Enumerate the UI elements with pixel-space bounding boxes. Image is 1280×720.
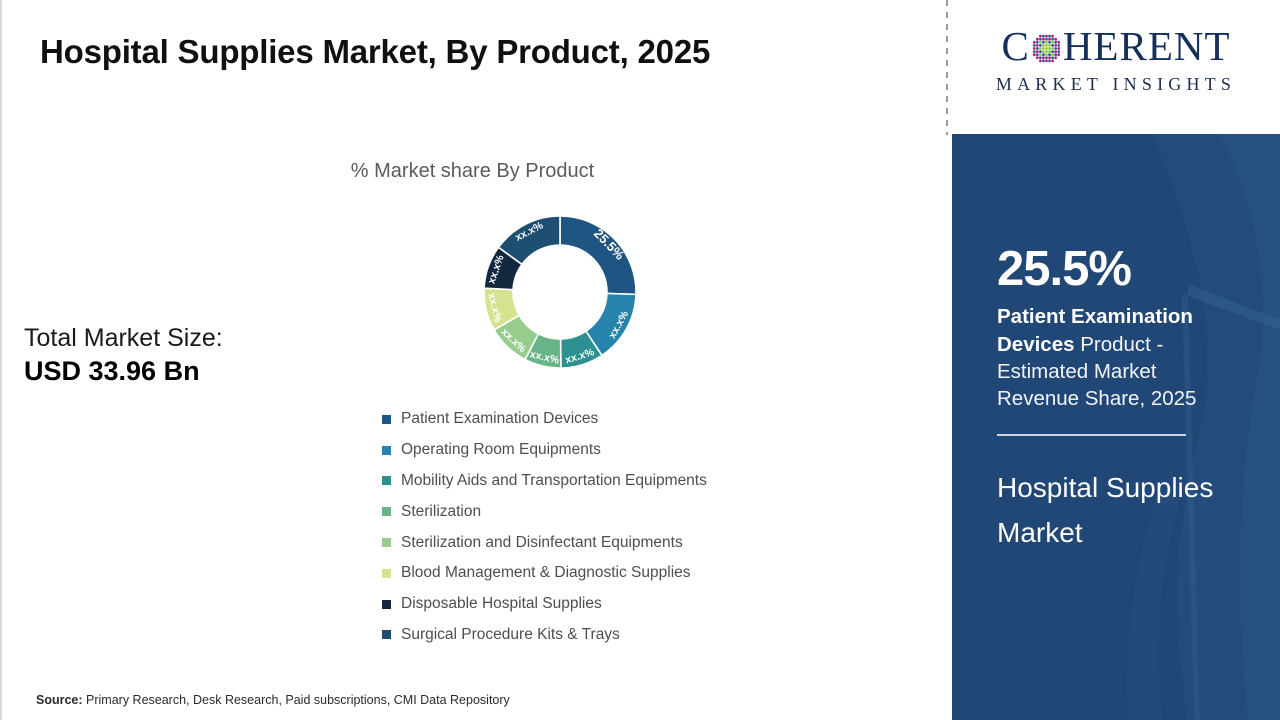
globe-dot <box>1042 47 1045 50</box>
globe-dot <box>1057 47 1060 50</box>
globe-dot <box>1042 56 1045 59</box>
vertical-dashed-divider <box>946 0 948 135</box>
globe-dot <box>1033 47 1036 50</box>
globe-dot <box>1036 38 1039 41</box>
globe-dot <box>1033 50 1036 53</box>
highlight-percent: 25.5% <box>997 244 1237 295</box>
globe-dot <box>1051 47 1054 50</box>
globe-dot <box>1048 47 1051 50</box>
globe-dot <box>1045 59 1048 62</box>
brand-logo-word-rest: HERENT <box>1063 26 1231 67</box>
source-text: Primary Research, Desk Research, Paid su… <box>83 693 510 707</box>
globe-dot <box>1051 38 1054 41</box>
left-edge-rule <box>0 0 2 720</box>
legend-item[interactable]: Sterilization and Disinfectant Equipment… <box>382 527 707 558</box>
globe-dot <box>1045 53 1048 56</box>
globe-dot <box>1051 53 1054 56</box>
globe-dot <box>1039 59 1042 62</box>
globe-dot <box>1057 44 1060 47</box>
globe-dot <box>1048 50 1051 53</box>
globe-dot <box>1054 47 1057 50</box>
globe-dot <box>1039 56 1042 59</box>
donut-slice <box>560 216 636 294</box>
globe-dot <box>1033 41 1036 44</box>
globe-dot <box>1036 53 1039 56</box>
globe-dot <box>1042 44 1045 47</box>
globe-dot <box>1048 59 1051 62</box>
highlight-description: Patient Examination Devices Product - Es… <box>997 303 1237 412</box>
globe-dot <box>1045 41 1048 44</box>
legend-item[interactable]: Mobility Aids and Transportation Equipme… <box>382 466 707 497</box>
globe-dot <box>1054 53 1057 56</box>
globe-dot <box>1042 41 1045 44</box>
globe-dot <box>1039 35 1042 38</box>
legend-item-label: Sterilization <box>401 503 481 521</box>
globe-dot <box>1033 44 1036 47</box>
globe-dot <box>1036 41 1039 44</box>
globe-dot <box>1036 47 1039 50</box>
globe-dot <box>1045 35 1048 38</box>
legend-item[interactable]: Sterilization <box>382 496 707 527</box>
brand-logo-wordmark: C HERENT <box>952 26 1280 67</box>
globe-dot <box>1039 47 1042 50</box>
legend-item[interactable]: Blood Management & Diagnostic Supplies <box>382 558 707 589</box>
globe-dot <box>1039 44 1042 47</box>
globe-dot <box>1051 50 1054 53</box>
legend-color-swatch <box>382 600 391 609</box>
globe-dot <box>1054 41 1057 44</box>
highlight-stat-panel: 25.5% Patient Examination Devices Produc… <box>952 134 1280 720</box>
globe-dot <box>1039 50 1042 53</box>
legend-color-swatch <box>382 415 391 424</box>
globe-dot <box>1057 41 1060 44</box>
highlight-stat-content: 25.5% Patient Examination Devices Produc… <box>997 244 1237 556</box>
legend-item[interactable]: Disposable Hospital Supplies <box>382 589 707 620</box>
legend-item[interactable]: Patient Examination Devices <box>382 404 707 435</box>
globe-dot <box>1036 50 1039 53</box>
globe-dot <box>1039 41 1042 44</box>
legend-item[interactable]: Operating Room Equipments <box>382 435 707 466</box>
globe-dot <box>1048 56 1051 59</box>
legend-item-label: Blood Management & Diagnostic Supplies <box>401 564 691 582</box>
globe-dot <box>1045 50 1048 53</box>
globe-dot <box>1045 56 1048 59</box>
legend-color-swatch <box>382 630 391 639</box>
legend-item-label: Mobility Aids and Transportation Equipme… <box>401 472 707 490</box>
page-title: Hospital Supplies Market, By Product, 20… <box>40 33 710 71</box>
globe-dot <box>1039 38 1042 41</box>
globe-dot <box>1042 53 1045 56</box>
globe-dot <box>1045 47 1048 50</box>
source-note: Source: Primary Research, Desk Research,… <box>36 693 510 707</box>
globe-dot <box>1057 50 1060 53</box>
globe-dot <box>1051 44 1054 47</box>
globe-dot <box>1054 38 1057 41</box>
globe-dot <box>1045 38 1048 41</box>
globe-dot <box>1036 56 1039 59</box>
chart-legend: Patient Examination DevicesOperating Roo… <box>382 404 707 650</box>
globe-dot <box>1039 53 1042 56</box>
legend-color-swatch <box>382 446 391 455</box>
legend-item-label: Surgical Procedure Kits & Trays <box>401 626 620 644</box>
legend-color-swatch <box>382 476 391 485</box>
globe-dot <box>1048 38 1051 41</box>
globe-dot <box>1042 59 1045 62</box>
globe-dot <box>1042 38 1045 41</box>
highlight-market-name: Hospital Supplies Market <box>997 466 1237 556</box>
globe-dot <box>1033 53 1036 56</box>
highlight-divider-rule <box>997 434 1186 436</box>
legend-item-label: Disposable Hospital Supplies <box>401 595 602 613</box>
globe-dot <box>1048 35 1051 38</box>
globe-dot <box>1054 56 1057 59</box>
legend-color-swatch <box>382 538 391 547</box>
legend-item-label: Patient Examination Devices <box>401 410 598 428</box>
legend-color-swatch <box>382 507 391 516</box>
globe-dot <box>1048 44 1051 47</box>
legend-color-swatch <box>382 569 391 578</box>
donut-chart-svg: 25.5%xx.x%xx.x%xx.x%xx.x%xx.x%xx.x%xx.x% <box>470 202 650 382</box>
globe-dot <box>1045 44 1048 47</box>
globe-dot <box>1057 53 1060 56</box>
globe-dot <box>1051 59 1054 62</box>
globe-dot <box>1054 44 1057 47</box>
globe-dot <box>1054 50 1057 53</box>
legend-item[interactable]: Surgical Procedure Kits & Trays <box>382 620 707 651</box>
brand-logo-subtitle: MARKET INSIGHTS <box>952 74 1280 95</box>
globe-dot <box>1051 35 1054 38</box>
dotted-globe-icon <box>1031 33 1062 64</box>
globe-dot <box>1051 56 1054 59</box>
globe-dot <box>1036 44 1039 47</box>
source-label: Source: <box>36 693 83 707</box>
globe-dot <box>1051 41 1054 44</box>
globe-dot <box>1042 35 1045 38</box>
brand-logo-letter-c: C <box>1001 26 1029 67</box>
brand-logo-panel: C HERENT MARKET INSIGHTS <box>952 0 1280 134</box>
donut-chart: 25.5%xx.x%xx.x%xx.x%xx.x%xx.x%xx.x%xx.x% <box>470 202 650 382</box>
globe-dot <box>1048 41 1051 44</box>
total-market-size-label: Total Market Size: <box>24 322 223 354</box>
total-market-size-block: Total Market Size: USD 33.96 Bn <box>24 322 223 390</box>
globe-dot <box>1048 53 1051 56</box>
legend-item-label: Operating Room Equipments <box>401 441 601 459</box>
total-market-size-value: USD 33.96 Bn <box>24 354 223 390</box>
chart-subtitle: % Market share By Product <box>0 160 945 183</box>
legend-item-label: Sterilization and Disinfectant Equipment… <box>401 534 683 552</box>
globe-dot <box>1042 50 1045 53</box>
infographic-canvas: Hospital Supplies Market, By Product, 20… <box>0 0 1280 720</box>
